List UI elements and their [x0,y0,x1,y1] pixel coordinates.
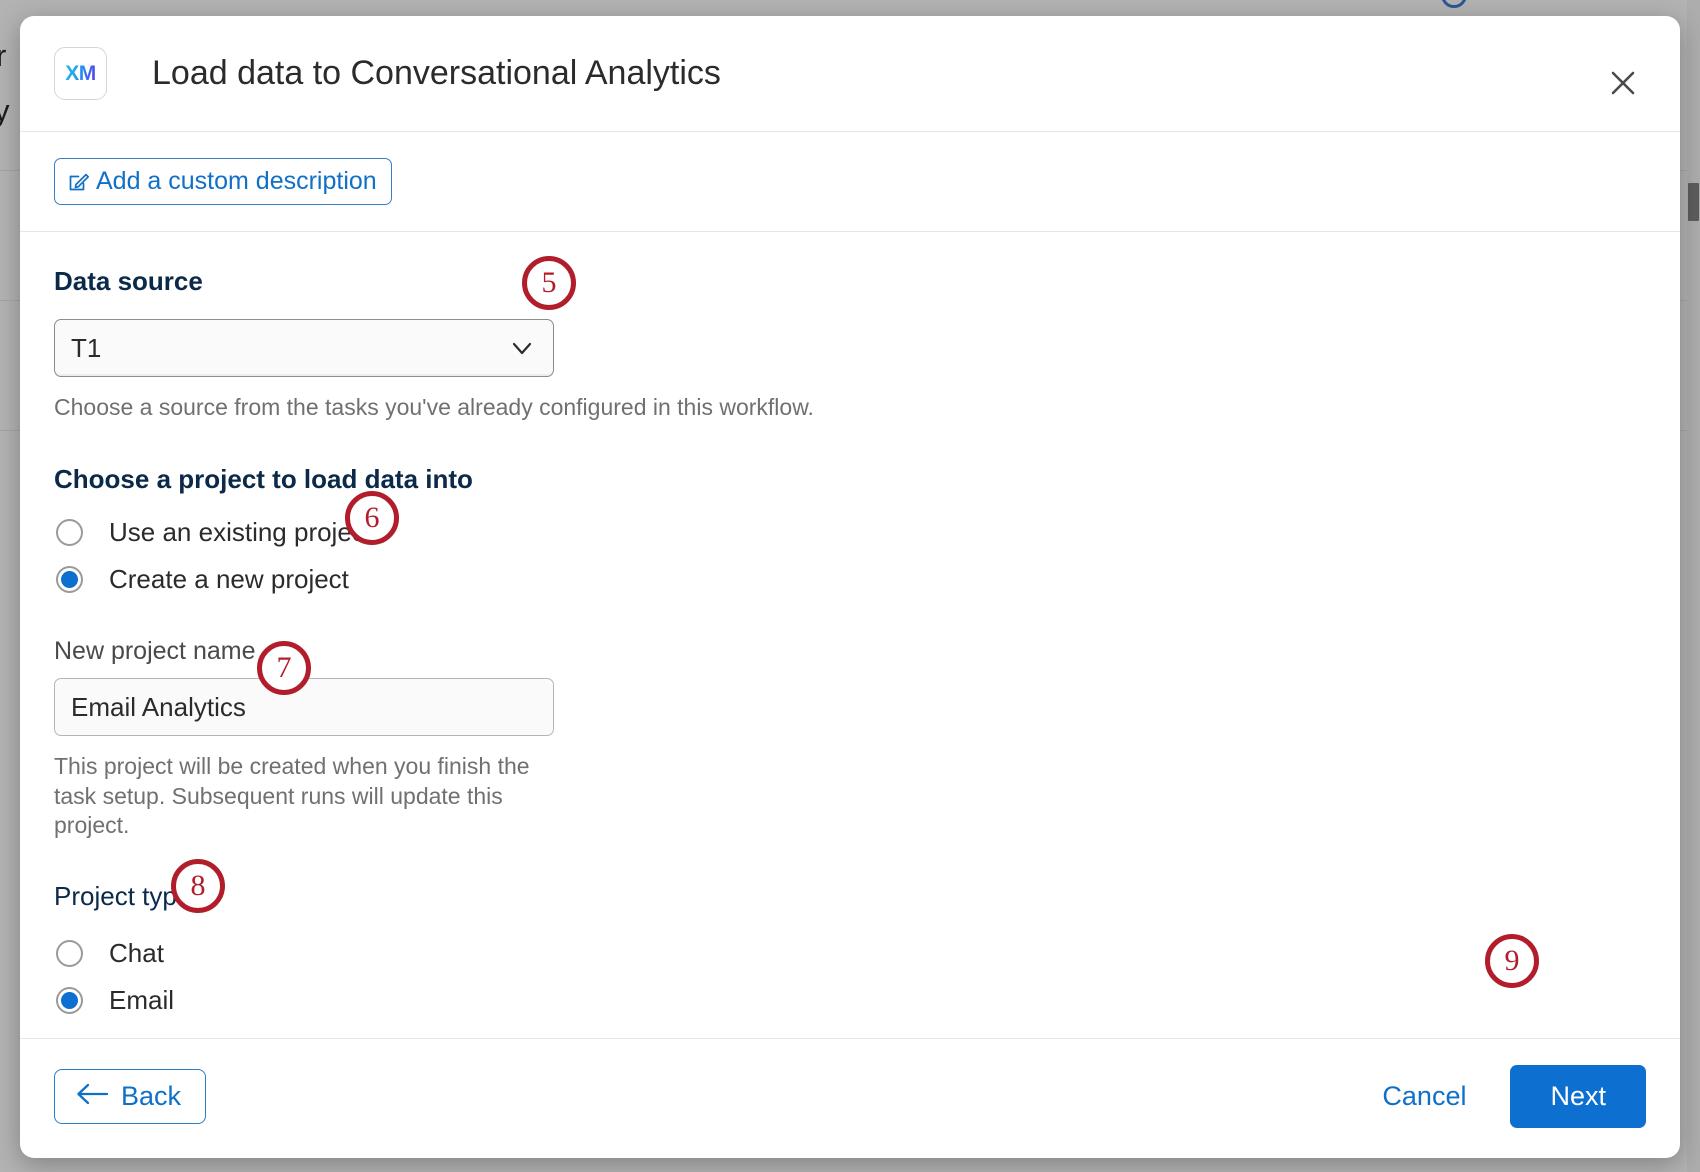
new-project-name-input[interactable] [54,678,554,736]
radio-indicator-unchecked [56,940,83,967]
modal-title: Load data to Conversational Analytics [152,54,721,93]
radio-indicator-checked [56,987,83,1014]
search-icon [1441,0,1467,8]
data-source-selected-value: T1 [71,333,507,364]
radio-indicator-checked [56,566,83,593]
data-source-heading: Data source [54,266,1646,297]
modal-header: XM Load data to Conversational Analytics [20,16,1680,131]
data-source-helper-text: Choose a source from the tasks you've al… [54,393,1646,422]
custom-description-section: Add a custom description [20,132,1680,231]
back-button-label: Back [121,1083,181,1110]
radio-project-type-chat[interactable]: Chat [54,938,1646,969]
new-project-helper-text: This project will be created when you fi… [54,752,574,840]
footer-actions: Cancel Next [1382,1065,1646,1128]
background-text-fragment: y [0,93,10,129]
arrow-left-icon [75,1083,109,1110]
edit-pencil-icon [67,170,91,194]
cancel-button[interactable]: Cancel [1382,1081,1466,1112]
page-scrollbar-thumb[interactable] [1688,183,1699,221]
back-button[interactable]: Back [54,1069,206,1124]
data-source-select[interactable]: T1 [54,319,554,377]
add-custom-description-button[interactable]: Add a custom description [54,158,392,205]
new-project-name-label: New project name [54,637,1646,666]
radio-label: Email [109,985,174,1016]
project-type-heading: Project type [54,881,1646,912]
page-scrollbar-track[interactable] [1687,0,1700,1172]
modal-body: Data source T1 Choose a source from the … [20,232,1680,1038]
radio-label: Use an existing project [109,517,372,548]
xm-app-icon-label: XM [65,62,96,86]
close-icon[interactable] [1603,63,1643,103]
chevron-down-icon [507,333,537,363]
radio-label: Create a new project [109,564,349,595]
next-button[interactable]: Next [1510,1065,1646,1128]
data-source-select-wrap: T1 [54,319,554,377]
add-custom-description-label: Add a custom description [96,169,377,194]
radio-create-new-project[interactable]: Create a new project [54,564,1646,595]
radio-label: Chat [109,938,164,969]
xm-app-icon: XM [54,47,107,100]
modal-footer: Back Cancel Next [20,1039,1680,1158]
radio-use-existing-project[interactable]: Use an existing project [54,517,1646,548]
radio-indicator-unchecked [56,519,83,546]
background-text-fragment: r [0,38,7,74]
load-data-modal: XM Load data to Conversational Analytics… [20,16,1680,1158]
project-choice-heading: Choose a project to load data into [54,464,1646,495]
radio-project-type-email[interactable]: Email [54,985,1646,1016]
